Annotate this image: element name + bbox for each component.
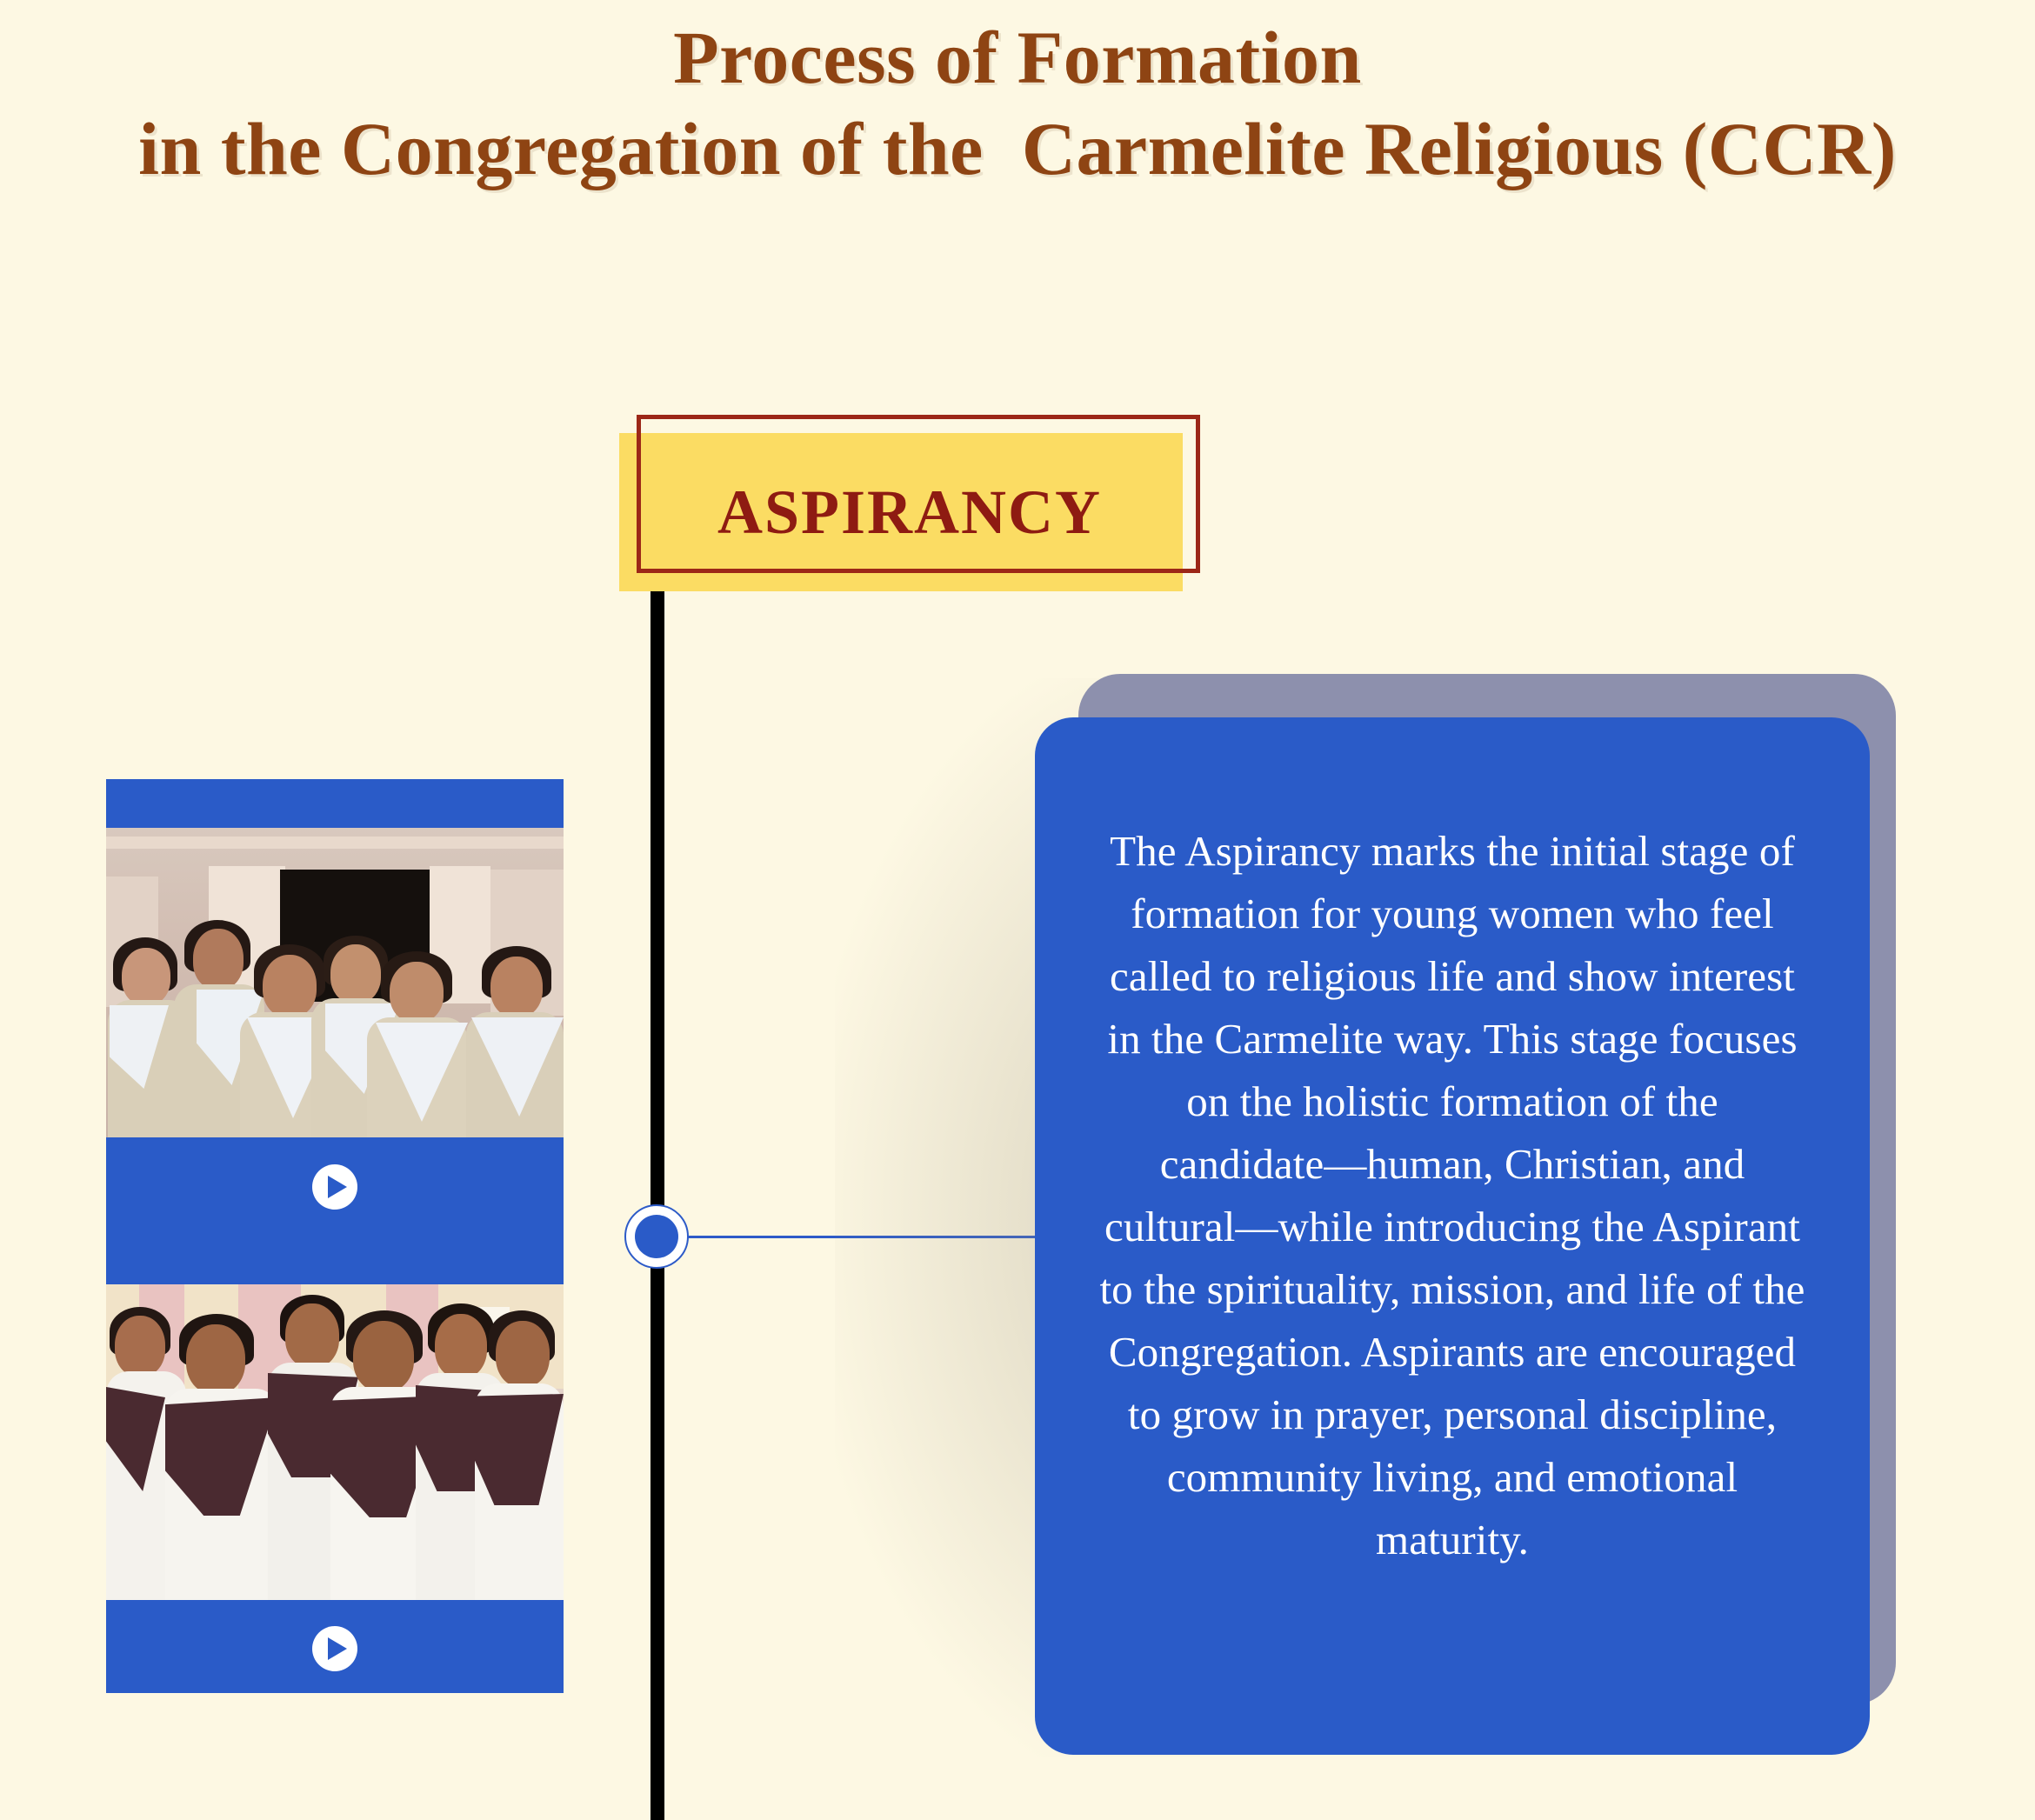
- play-icon[interactable]: [312, 1164, 357, 1210]
- aspirants-photo-white-shawls: [106, 828, 564, 1137]
- page-title: Process of Formation in the Congregation…: [0, 12, 2035, 195]
- aspirancy-description-card: The Aspirancy marks the initial stage of…: [1035, 717, 1870, 1755]
- timeline-spine: [651, 574, 664, 1820]
- stage-badge-label: ASPIRANCY: [619, 433, 1200, 591]
- stage-badge[interactable]: ASPIRANCY: [619, 409, 1219, 600]
- page-title-line-1: Process of Formation: [0, 12, 2035, 103]
- infographic-canvas: Process of Formation in the Congregation…: [0, 0, 2035, 1820]
- timeline-node-dot[interactable]: [635, 1215, 678, 1258]
- aspirancy-description-text: The Aspirancy marks the initial stage of…: [1099, 820, 1805, 1571]
- aspirants-photo-brown-shawls: [106, 1284, 564, 1600]
- timeline-connector-line: [687, 1236, 1045, 1238]
- play-icon[interactable]: [312, 1626, 357, 1671]
- media-panel-2[interactable]: [106, 1237, 564, 1693]
- page-title-line-2: in the Congregation of the Carmelite Rel…: [0, 103, 2035, 195]
- media-panel-1[interactable]: [106, 779, 564, 1238]
